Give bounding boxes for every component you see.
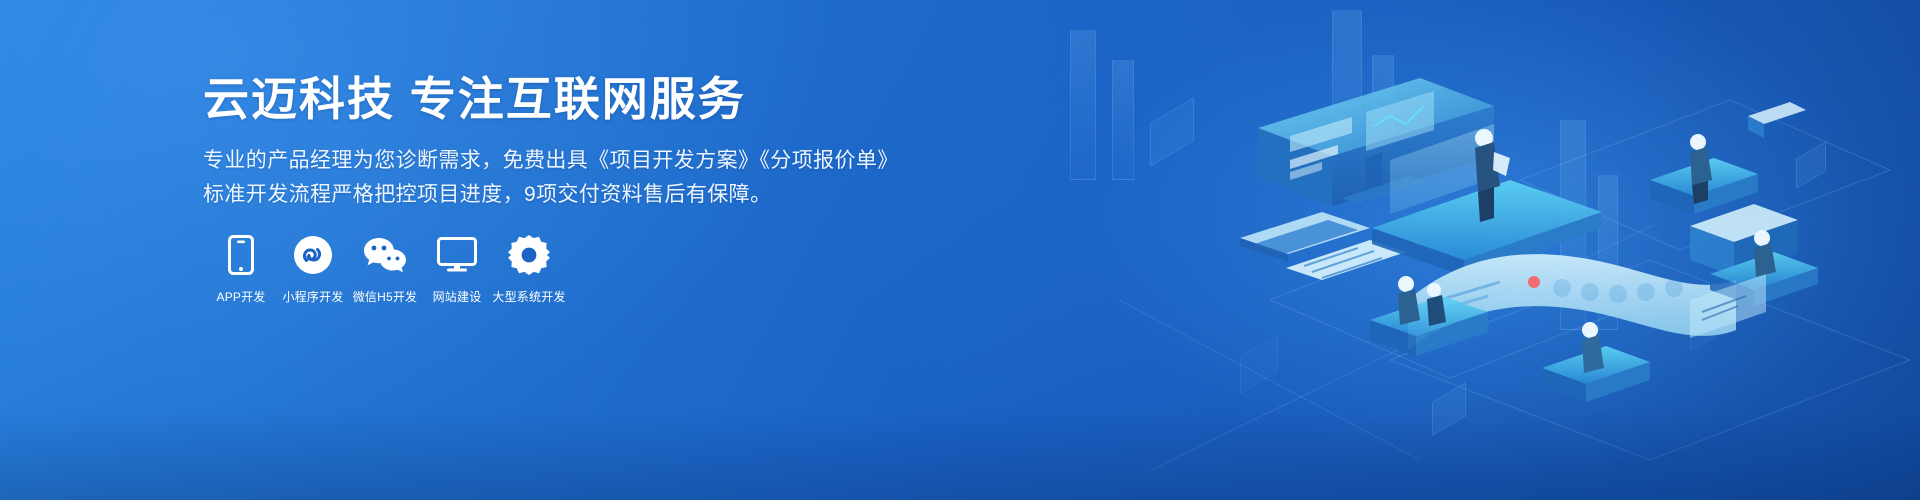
service-item-app[interactable]: APP开发 xyxy=(205,232,277,304)
service-label-app: APP开发 xyxy=(216,290,265,304)
service-label-large-system: 大型系统开发 xyxy=(492,290,565,304)
hero-banner: 云迈科技 专注互联网服务 专业的产品经理为您诊断需求，免费出具《项目开发方案》《… xyxy=(0,0,1920,500)
service-label-website: 网站建设 xyxy=(433,290,482,304)
banner-content: 云迈科技 专注互联网服务 专业的产品经理为您诊断需求，免费出具《项目开发方案》《… xyxy=(203,0,963,500)
mobile-phone-icon xyxy=(218,232,264,278)
banner-subtitle: 专业的产品经理为您诊断需求，免费出具《项目开发方案》《分项报价单》 标准开发流程… xyxy=(203,144,903,212)
service-item-mini-program[interactable]: 小程序开发 xyxy=(277,232,349,304)
mini-program-icon xyxy=(290,232,336,278)
wechat-icon xyxy=(362,232,408,278)
monitor-icon xyxy=(434,232,480,278)
service-item-large-system[interactable]: 大型系统开发 xyxy=(493,232,565,304)
service-label-mini-program: 小程序开发 xyxy=(282,290,343,304)
service-item-website[interactable]: 网站建设 xyxy=(421,232,493,304)
service-label-wechat-h5: 微信H5开发 xyxy=(353,290,418,304)
subtitle-line-2: 标准开发流程严格把控项目进度，9项交付资料售后有保障。 xyxy=(203,178,903,212)
isometric-illustration xyxy=(1090,0,1920,500)
service-item-wechat-h5[interactable]: 微信H5开发 xyxy=(349,232,421,304)
subtitle-line-1: 专业的产品经理为您诊断需求，免费出具《项目开发方案》《分项报价单》 xyxy=(203,144,903,178)
gear-icon xyxy=(506,232,552,278)
service-list: APP开发 小程序开发 xyxy=(205,232,565,304)
page-title: 云迈科技 专注互联网服务 xyxy=(203,72,746,126)
